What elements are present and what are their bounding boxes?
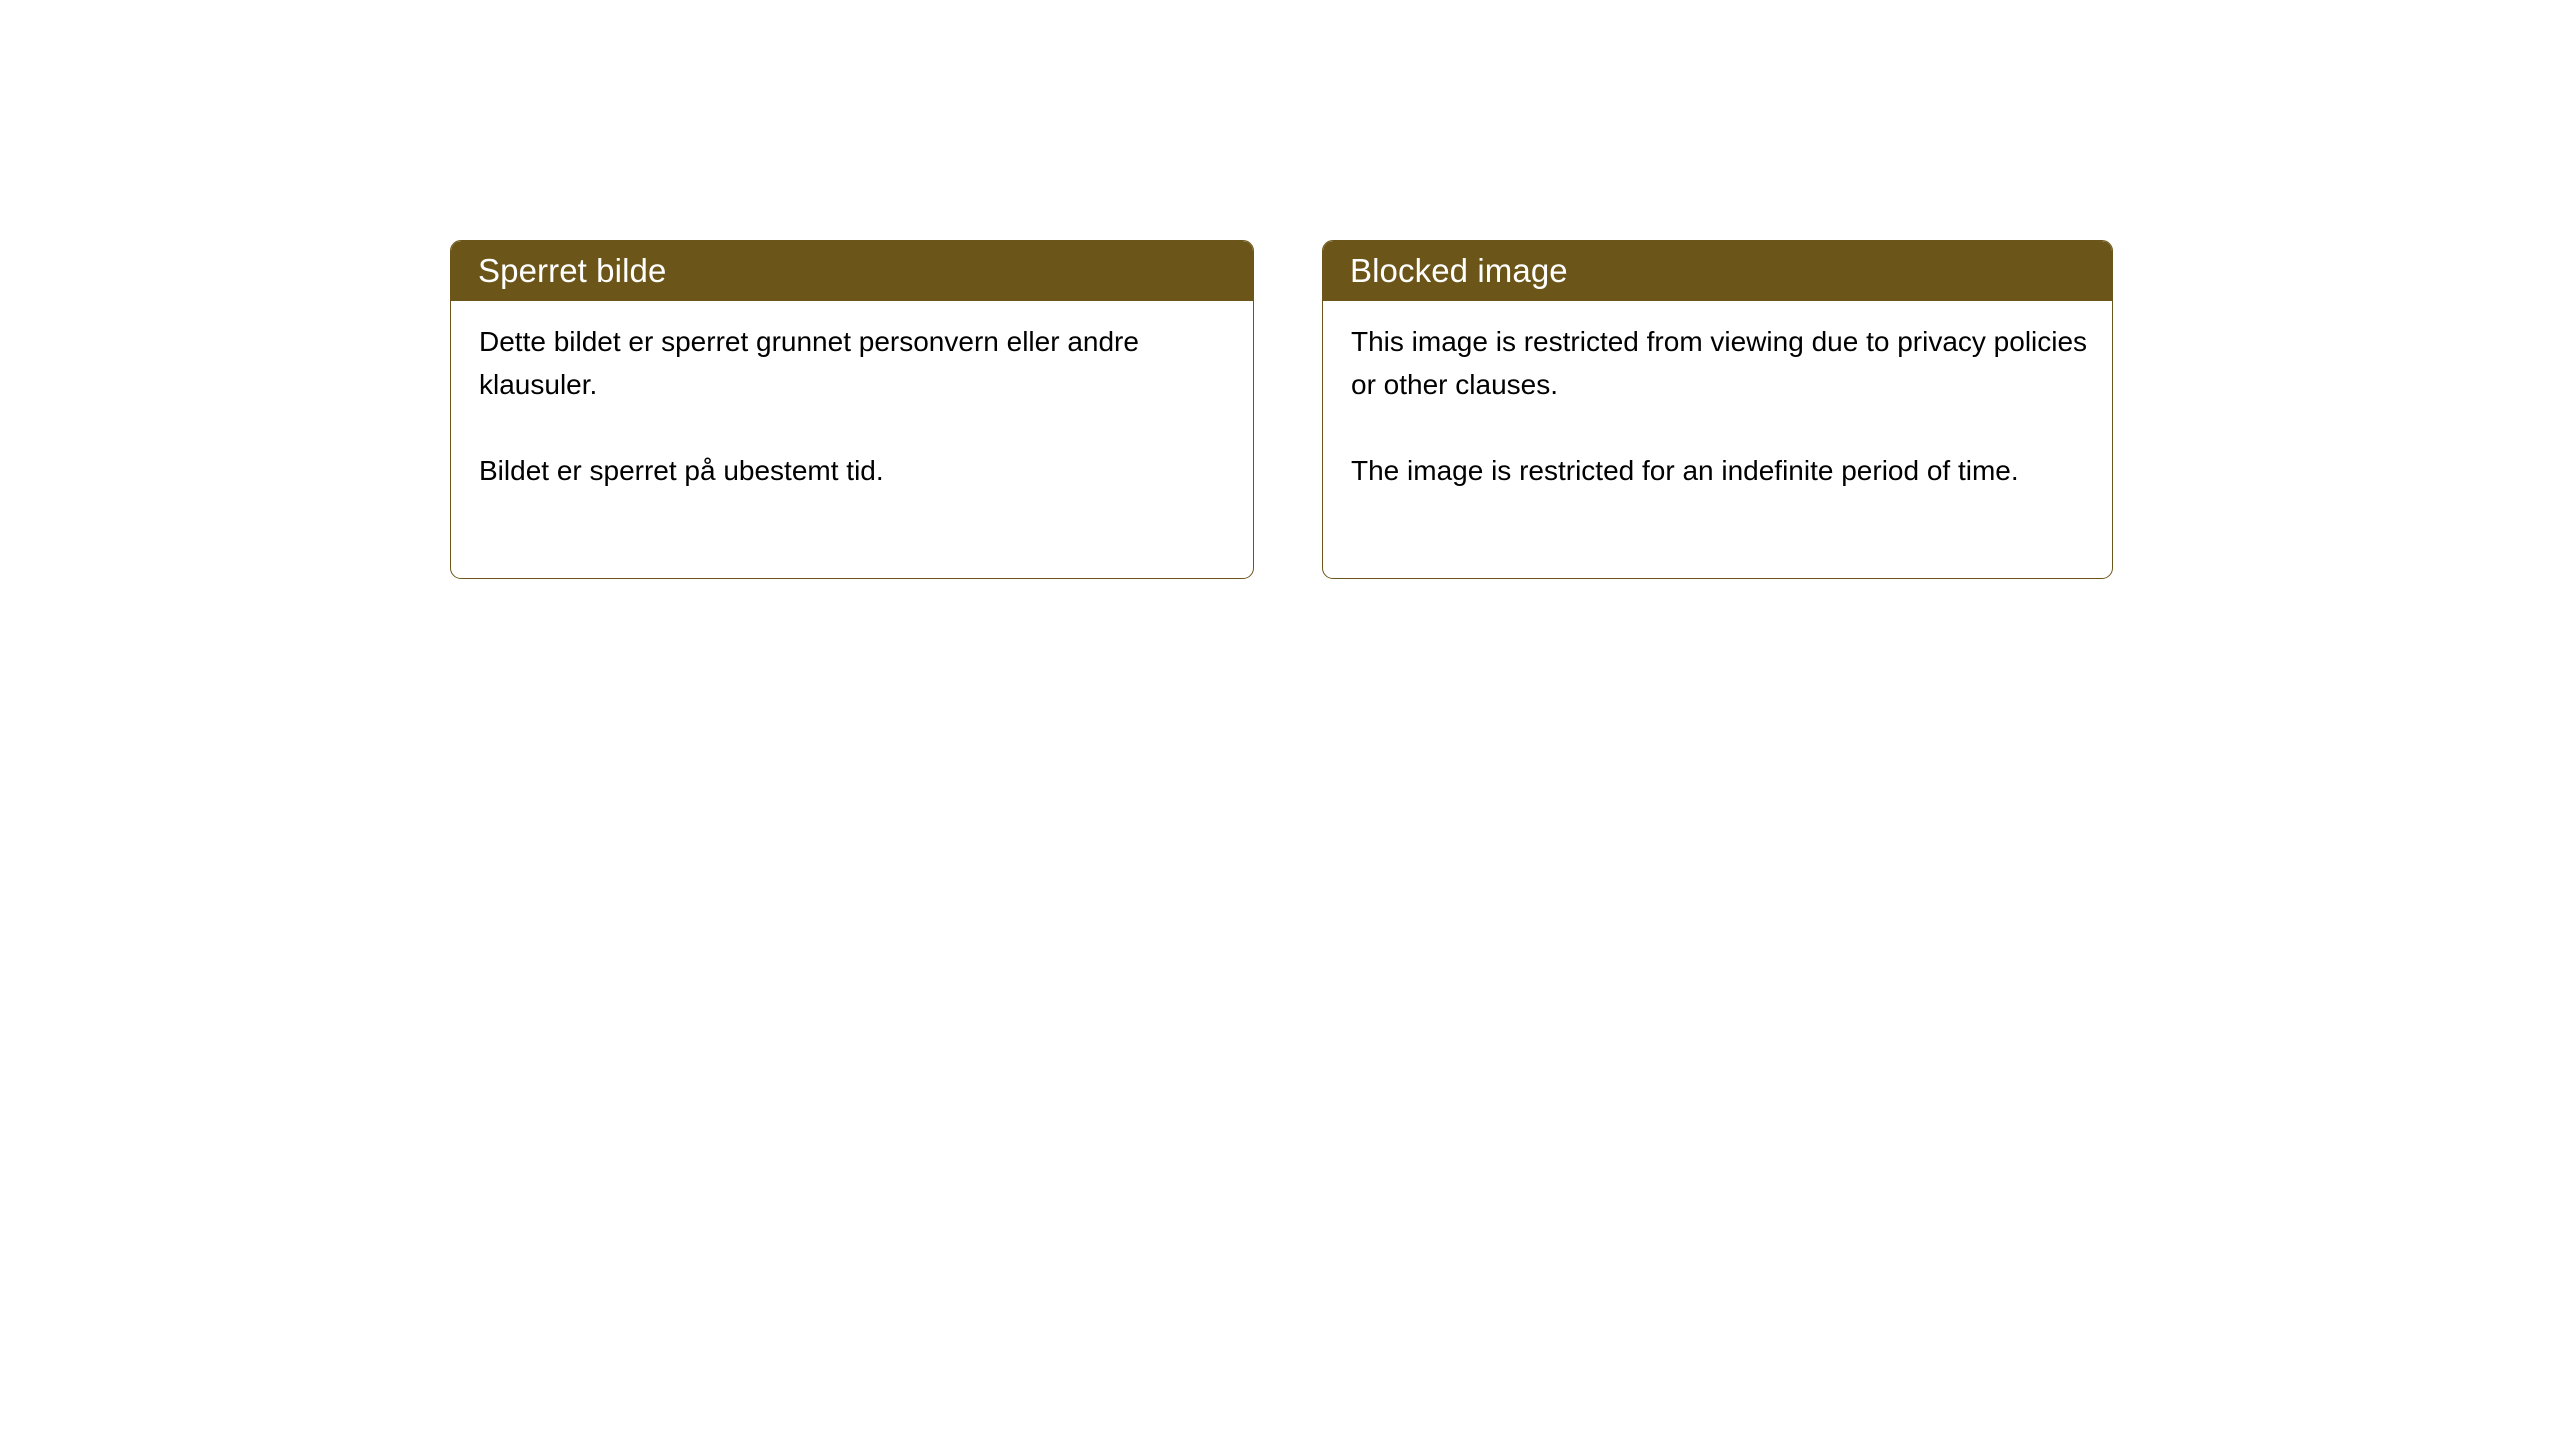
card-title-norwegian: Sperret bilde: [478, 253, 666, 289]
page-canvas: Sperret bilde Dette bildet er sperret gr…: [0, 0, 2560, 1440]
card-paragraph-privacy-norwegian: Dette bildet er sperret grunnet personve…: [479, 320, 1229, 406]
card-body-english: This image is restricted from viewing du…: [1323, 301, 2112, 492]
card-paragraph-privacy-english: This image is restricted from viewing du…: [1351, 320, 2088, 406]
card-title-english: Blocked image: [1350, 253, 1568, 289]
card-header-norwegian: Sperret bilde: [451, 241, 1253, 301]
card-body-norwegian: Dette bildet er sperret grunnet personve…: [451, 301, 1253, 492]
blocked-image-card-norwegian: Sperret bilde Dette bildet er sperret gr…: [450, 240, 1254, 579]
paragraph-spacer: [479, 406, 1229, 449]
card-paragraph-duration-english: The image is restricted for an indefinit…: [1351, 449, 2088, 492]
blocked-image-card-english: Blocked image This image is restricted f…: [1322, 240, 2113, 579]
card-paragraph-duration-norwegian: Bildet er sperret på ubestemt tid.: [479, 449, 1229, 492]
paragraph-spacer: [1351, 406, 2088, 449]
card-header-english: Blocked image: [1323, 241, 2112, 301]
